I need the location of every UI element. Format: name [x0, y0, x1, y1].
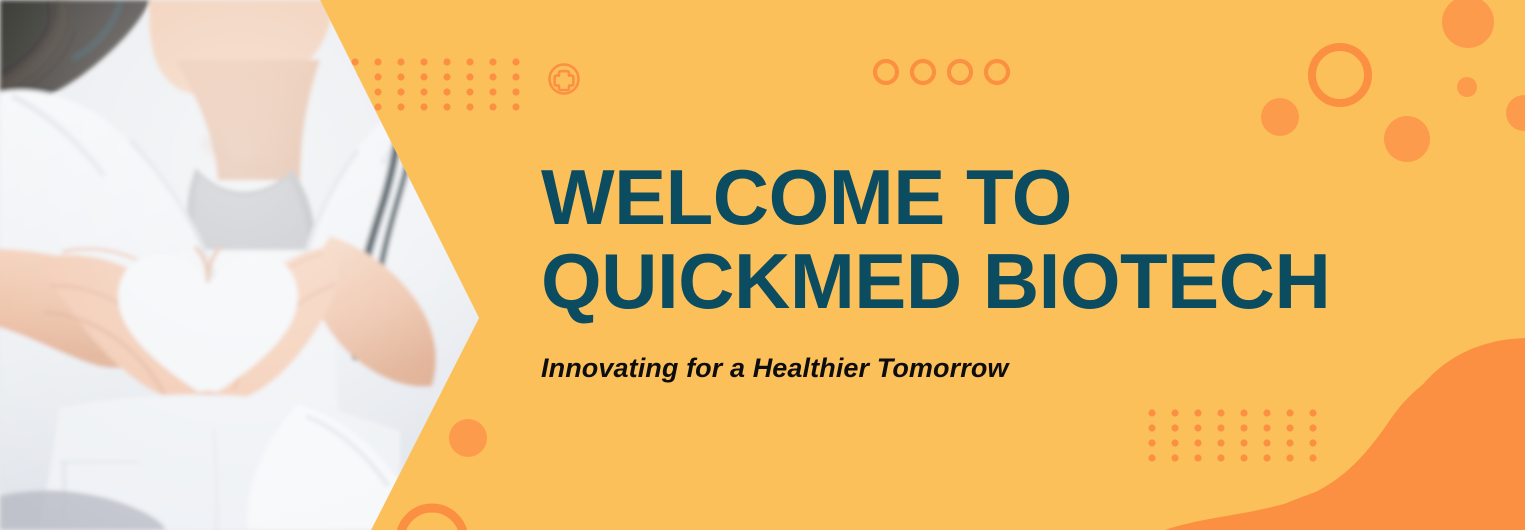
banner-text-block: WELCOME TO QUICKMED BIOTECH Innovating f…: [541, 155, 1401, 384]
filled-circle: [449, 419, 487, 457]
filled-circle: [1261, 98, 1299, 136]
welcome-banner: WELCOME TO QUICKMED BIOTECH Innovating f…: [0, 0, 1525, 530]
headline-line-1: WELCOME TO: [541, 155, 1401, 239]
filled-circle: [1457, 77, 1477, 97]
headline-line-2: QUICKMED BIOTECH: [541, 239, 1401, 323]
tagline: Innovating for a Healthier Tomorrow: [541, 353, 1401, 384]
